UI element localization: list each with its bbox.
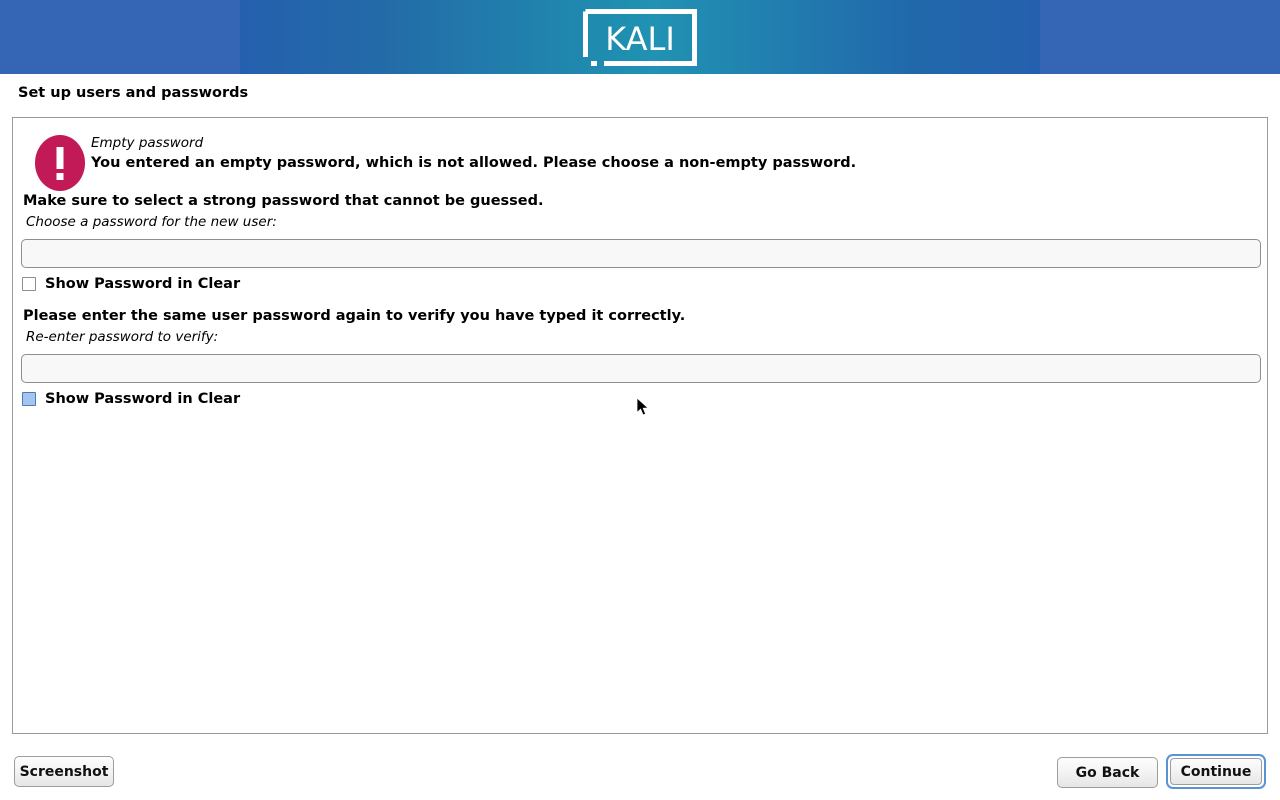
- show-password-checkbox-2-label: Show Password in Clear: [45, 391, 240, 407]
- show-password-checkbox-row-2[interactable]: Show Password in Clear: [22, 391, 240, 407]
- verify-password-input[interactable]: [21, 354, 1261, 383]
- continue-button[interactable]: Continue: [1170, 758, 1262, 785]
- installer-window: KALI Set up users and passwords Empty pa…: [0, 0, 1280, 800]
- error-title: Empty password: [91, 135, 203, 151]
- content-panel: Empty password You entered an empty pass…: [12, 117, 1268, 734]
- show-password-checkbox-1-label: Show Password in Clear: [45, 276, 240, 292]
- error-message: You entered an empty password, which is …: [91, 155, 856, 171]
- verify-password-hint: Please enter the same user password agai…: [23, 308, 685, 324]
- password-field-label: Choose a password for the new user:: [26, 214, 277, 230]
- show-password-checkbox-row-1[interactable]: Show Password in Clear: [22, 276, 240, 292]
- svg-text:KALI: KALI: [605, 20, 675, 58]
- password-input[interactable]: [21, 239, 1261, 268]
- kali-banner: KALI: [0, 0, 1280, 74]
- show-password-checkbox-1[interactable]: [22, 277, 36, 291]
- error-exclamation-icon: [35, 135, 85, 191]
- page-title: Set up users and passwords: [18, 85, 248, 101]
- verify-field-label: Re-enter password to verify:: [26, 329, 218, 345]
- kali-logo: KALI: [583, 9, 697, 66]
- go-back-button[interactable]: Go Back: [1057, 757, 1158, 788]
- password-strength-hint: Make sure to select a strong password th…: [23, 193, 544, 209]
- show-password-checkbox-2[interactable]: [22, 392, 36, 406]
- screenshot-button[interactable]: Screenshot: [14, 756, 114, 787]
- error-notice: Empty password You entered an empty pass…: [23, 126, 1253, 190]
